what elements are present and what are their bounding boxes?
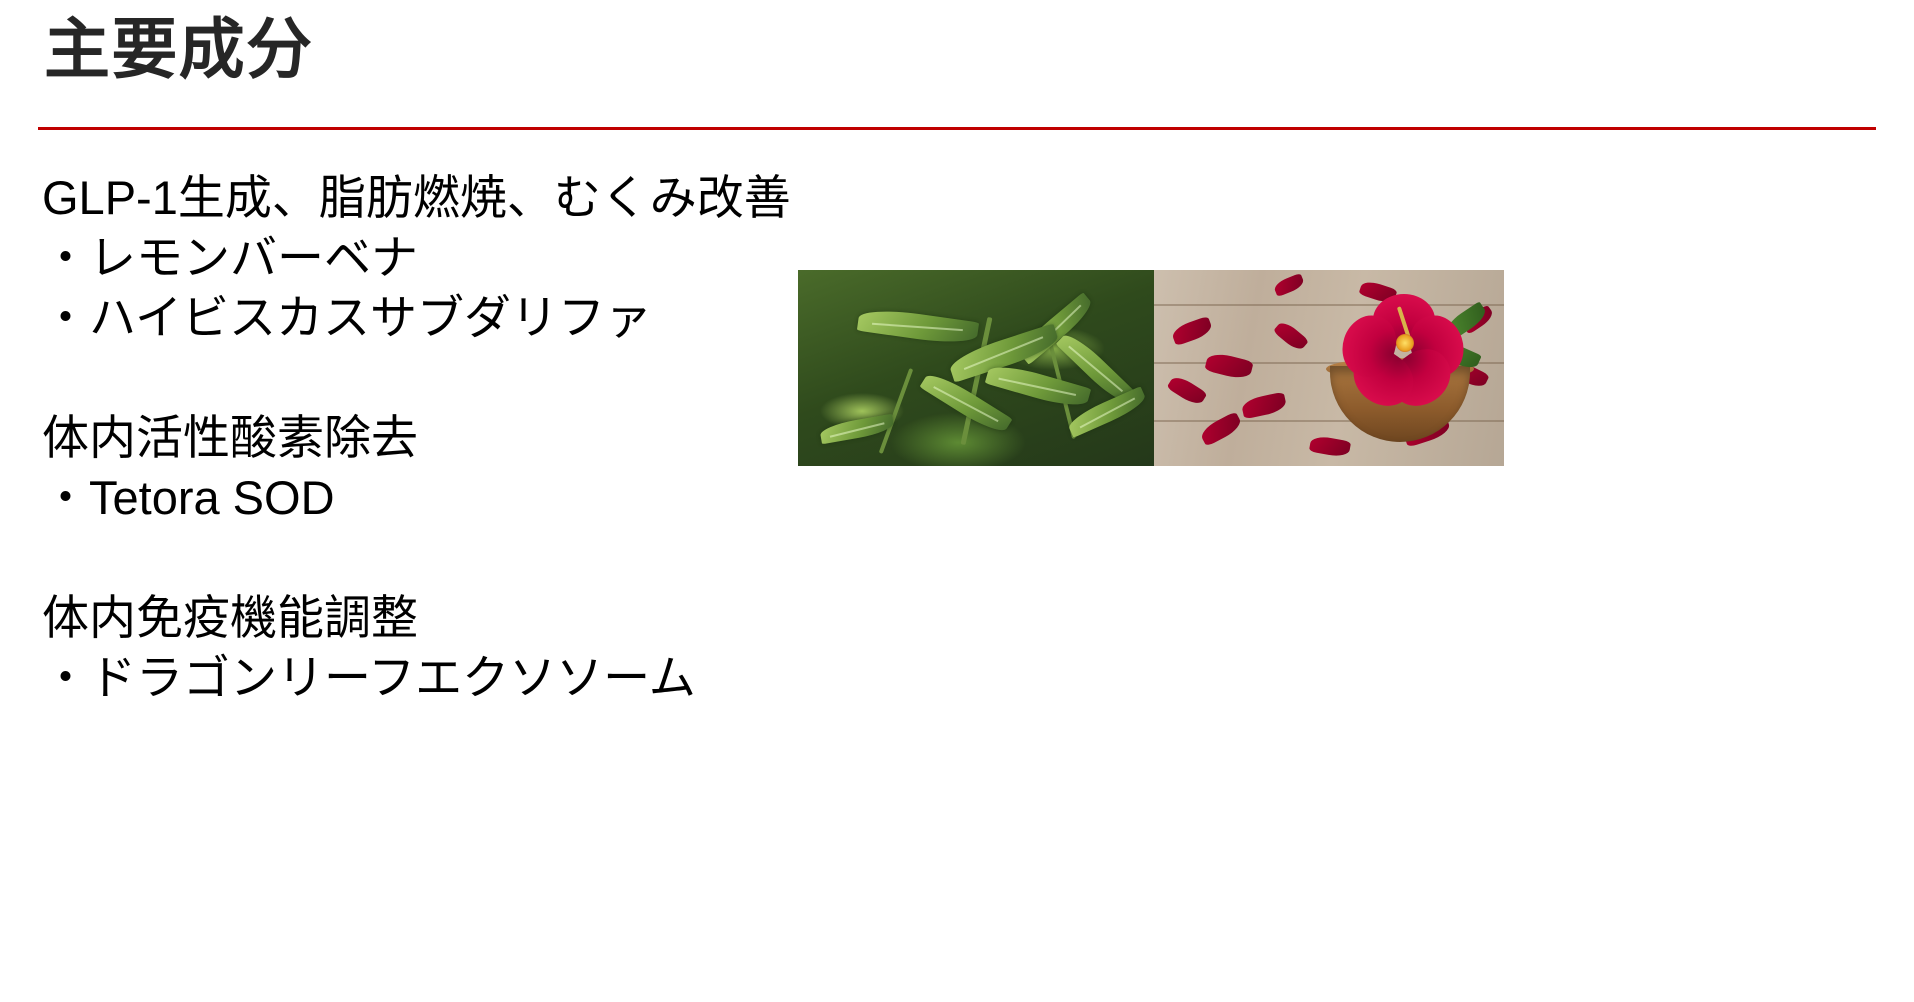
section-immune: 体内免疫機能調整 ・ドラゴンリーフエクソソーム [42, 588, 1242, 708]
dried-petal [1273, 319, 1309, 353]
section-heading: GLP-1生成、脂肪燃焼、むくみ改善 [42, 168, 1242, 228]
list-item: ・Tetora SOD [42, 468, 1242, 528]
leaf-shape [857, 306, 979, 347]
dried-petal [1241, 392, 1288, 420]
section-spacer [42, 528, 1242, 588]
dried-petal [1204, 351, 1253, 382]
title-divider [38, 127, 1876, 130]
leaf-shape [985, 360, 1092, 412]
photo-strip [798, 270, 1504, 466]
list-item: ・ドラゴンリーフエクソソーム [42, 648, 1242, 708]
dried-petal [1309, 435, 1351, 459]
hibiscus-photo [1154, 270, 1504, 466]
slide-root: 主要成分 GLP-1生成、脂肪燃焼、むくみ改善 ・レモンバーベナ ・ハイビスカス… [0, 0, 1914, 1002]
dried-petal [1170, 316, 1214, 347]
dried-petal [1272, 273, 1305, 297]
page-title: 主要成分 [44, 8, 313, 91]
lemon-verbena-photo [798, 270, 1154, 466]
flower-center [1396, 334, 1414, 352]
wood-grain-line [1154, 420, 1504, 422]
plant-stem [879, 368, 914, 454]
dried-petal [1198, 411, 1244, 447]
dried-petal [1166, 373, 1207, 408]
hibiscus-flower [1340, 294, 1468, 402]
section-heading: 体内免疫機能調整 [42, 588, 1242, 648]
